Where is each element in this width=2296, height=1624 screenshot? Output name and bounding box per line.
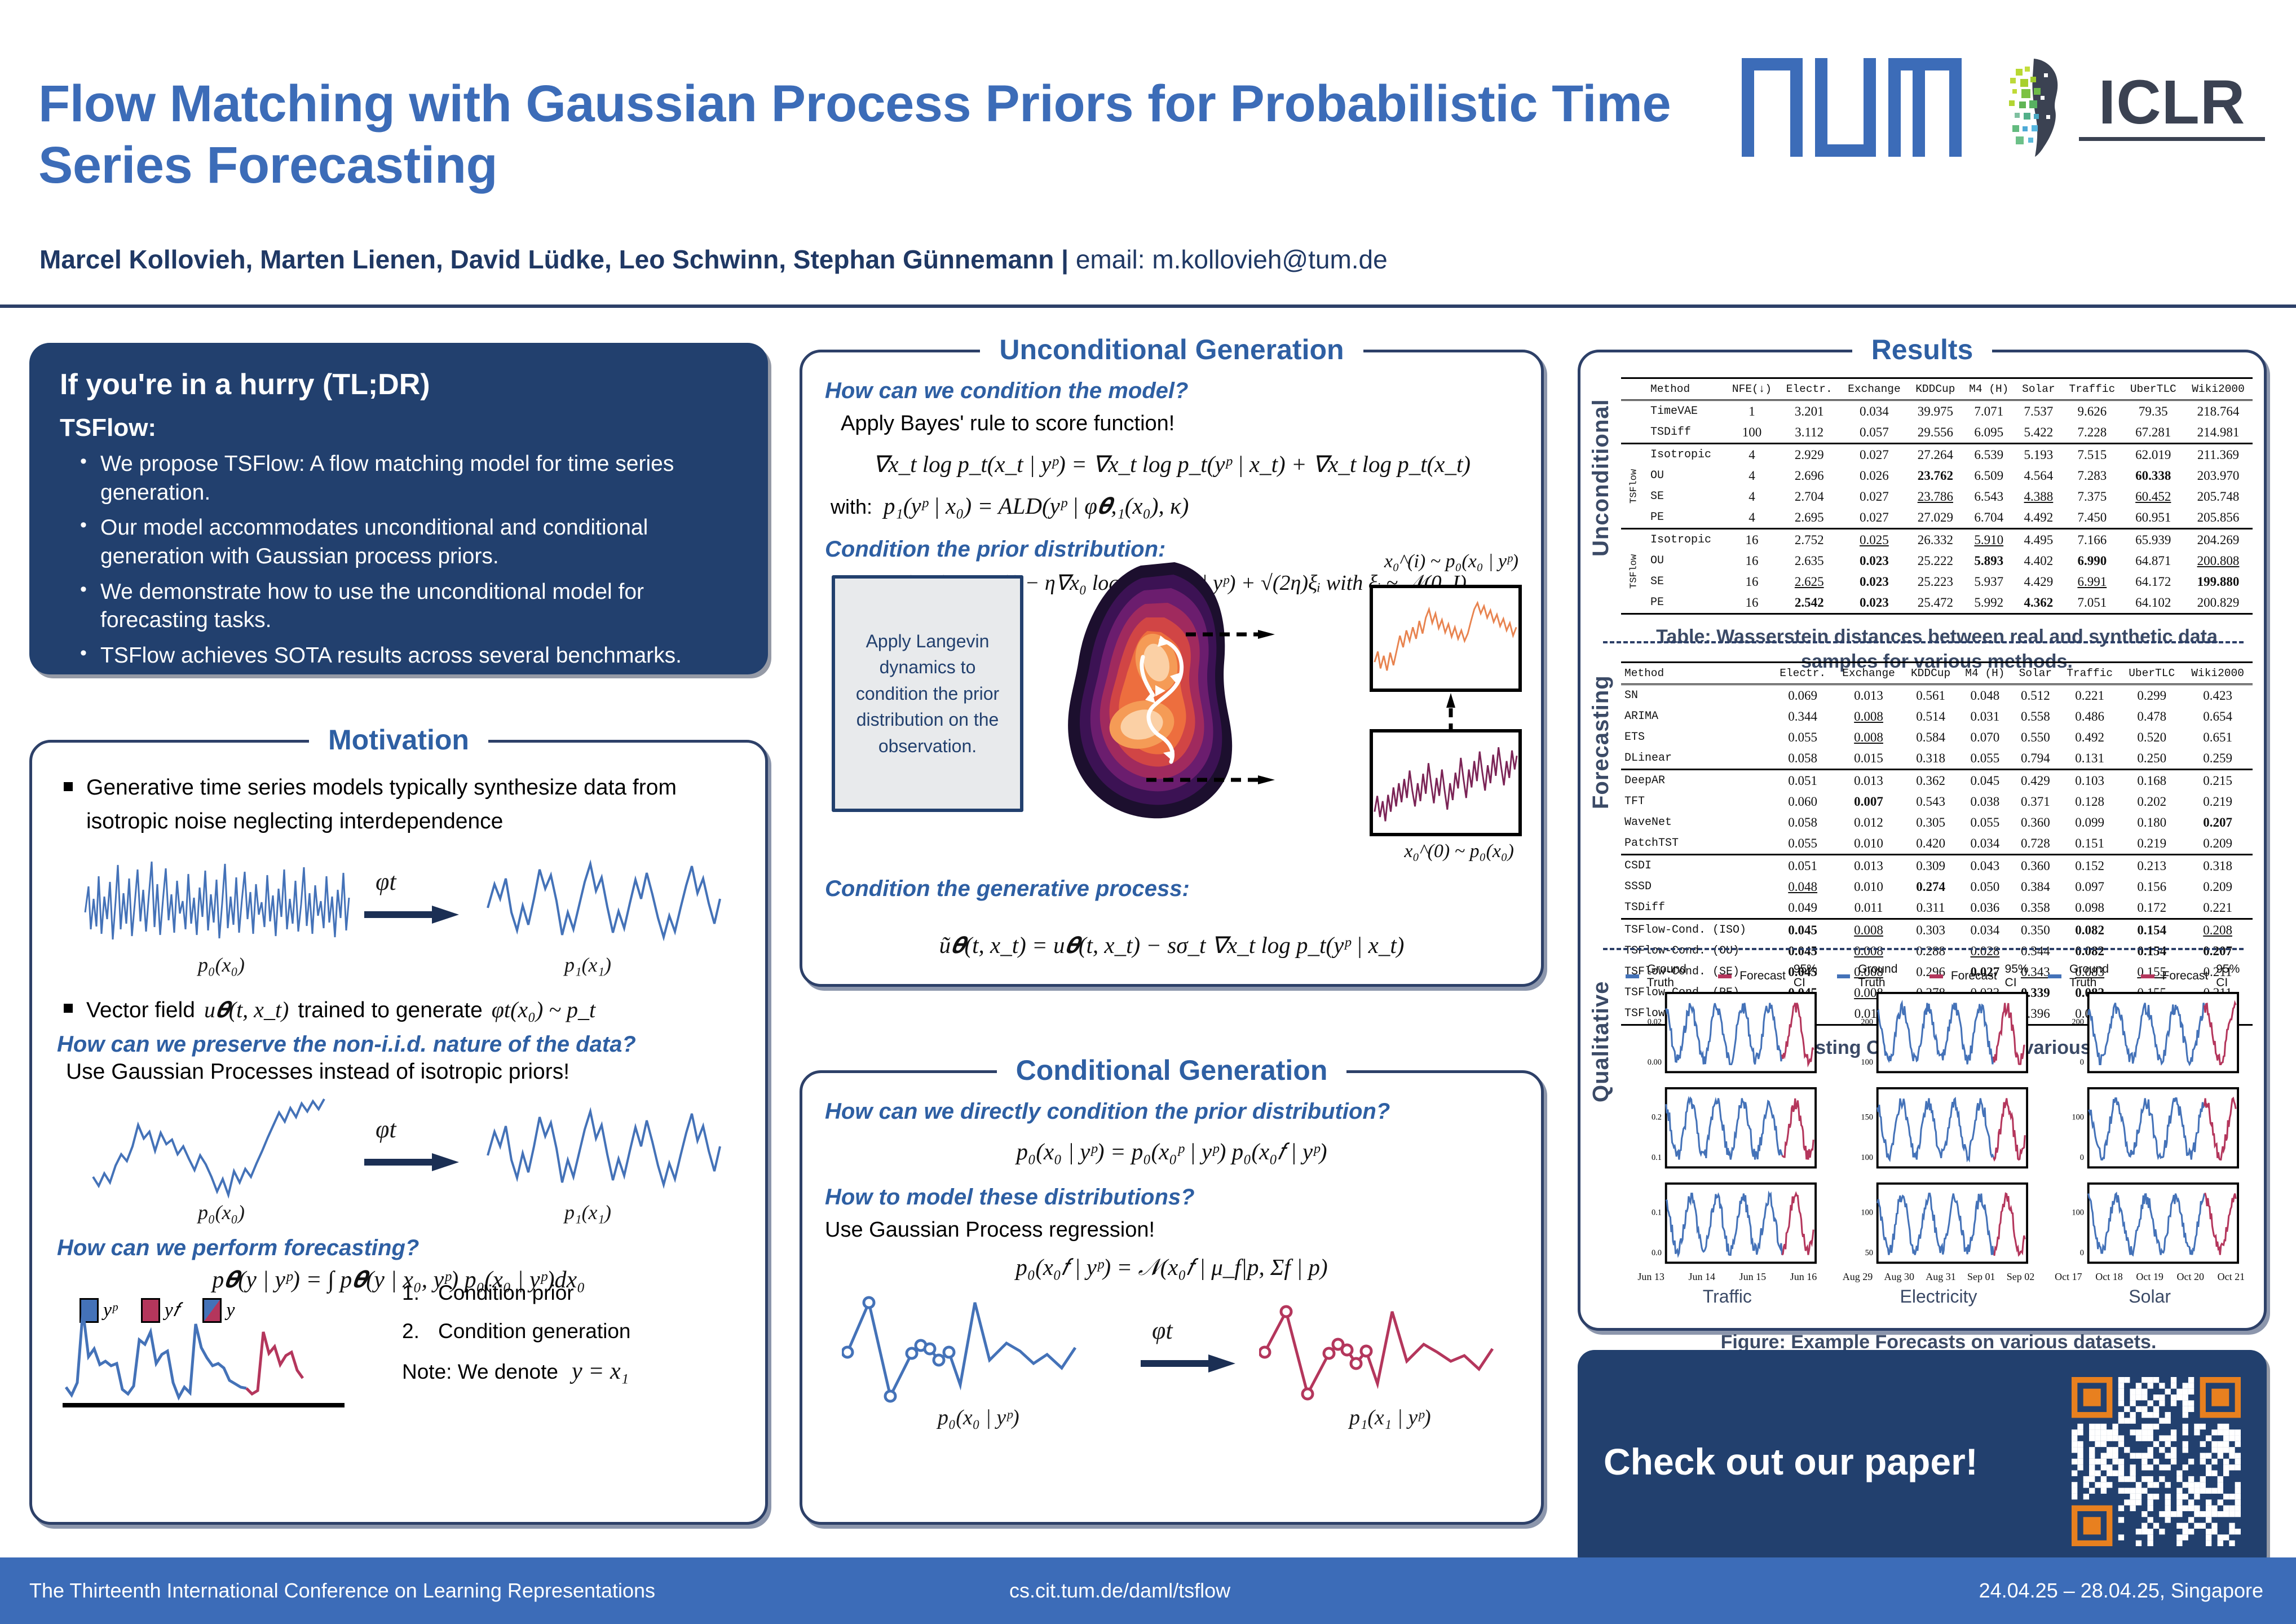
iclr-wordmark: ICLR (2079, 73, 2265, 141)
motivation-bullet-2: Vector field u𝜽(t, x_t) trained to gener… (57, 992, 740, 1027)
column-header: Method (1647, 378, 1725, 400)
table-cell: 0.028 (1958, 941, 2012, 961)
table-cell: 4.362 (2016, 592, 2061, 614)
table-cell: 0.055 (1772, 727, 1834, 748)
step-text: Condition generation (438, 1319, 630, 1343)
table-cell: 0.051 (1772, 855, 1834, 877)
table-cell: 0.299 (2121, 685, 2183, 707)
table-cell: 0.027 (1840, 444, 1909, 466)
list-item: We propose TSFlow: A flow matching model… (78, 450, 738, 507)
table-cell: 0.362 (1904, 770, 1958, 792)
conditional-generation-card: Conditional Generation How can we direct… (800, 1070, 1544, 1525)
unconditional-eq-bayes: ∇x_t log p_t(x_t | yᵖ) = ∇x_t log p_t(yᵖ… (825, 451, 1518, 478)
table-cell: 4.388 (2016, 486, 2061, 507)
table-cell: 0.025 (1840, 529, 1909, 551)
table-cell: 0.429 (2012, 770, 2059, 792)
dashed-arrow-up-icon (1446, 693, 1455, 732)
motivation-eq-flow: φt(x₀) ~ p_t (492, 992, 595, 1027)
table-cell: 79.35 (2123, 400, 2184, 422)
table-cell: 0.728 (2012, 833, 2059, 855)
table-cell: 0.156 (2121, 876, 2183, 897)
table-cell: 6.991 (2061, 571, 2122, 592)
table-cell: 2.542 (1779, 592, 1840, 614)
table-cell: 4.402 (2016, 550, 2061, 571)
table-cell: 60.452 (2123, 486, 2184, 507)
tldr-box: If you're in a hurry (TL;DR) TSFlow: We … (29, 343, 768, 674)
chart-title: Traffic (1626, 1286, 1829, 1307)
y-tick-label: 100 (1861, 1153, 1873, 1162)
table-cell: 39.975 (1909, 400, 1962, 422)
table-cell: 29.556 (1909, 422, 1962, 444)
table-cell: 0.010 (1834, 833, 1904, 855)
iclr-text: ICLR (2099, 73, 2246, 133)
y-tick-label: 0.02 (1648, 1018, 1662, 1027)
column-header: KDDCup (1904, 663, 1958, 685)
qual-chart-cell: 0100Oct 17Oct 18Oct 19Oct 20Oct 21Solar (2048, 1182, 2251, 1307)
x-axis-ticks: Jun 13Jun 14Jun 15Jun 16 (1626, 1271, 1829, 1283)
table-cell: 0.561 (1904, 685, 1958, 707)
table-cell: 0.219 (2183, 791, 2253, 812)
tldr-heading: If you're in a hurry (TL;DR) (60, 368, 738, 401)
table-cell: 6.509 (1962, 465, 2016, 486)
table-cell: 0.082 (2059, 941, 2121, 961)
table-cell: 0.202 (2121, 791, 2183, 812)
x-axis-ticks: Aug 29Aug 30Aug 31Sep 01Sep 02 (1837, 1271, 2041, 1283)
author-names: Marcel Kollovieh, Marten Lienen, David L… (39, 245, 1076, 274)
table-cell: 0.514 (1904, 706, 1958, 727)
y-tick-label: 0.0 (1652, 1248, 1662, 1257)
forecast-example-plot (63, 1298, 390, 1411)
table-cell: 25.472 (1909, 592, 1962, 614)
table-cell: 0.008 (1834, 706, 1904, 727)
table-cell: 0.043 (1958, 855, 2012, 877)
y-tick-label: 0 (2080, 1058, 2084, 1067)
unconditional-answer-1: Apply Bayes' rule to score function! (841, 412, 1518, 436)
motivation-body: Generative time series models typically … (32, 743, 765, 1522)
table-cell: 64.102 (2123, 592, 2184, 614)
step-number: 2. (402, 1319, 428, 1343)
table-cell: 0.219 (2121, 833, 2183, 855)
table-cell: 0.584 (1904, 727, 1958, 748)
motivation-fig1-right-label: p₁(x₁) (564, 953, 611, 977)
motivation-note-eq: y = x₁ (572, 1358, 629, 1385)
list-item: We demonstrate how to use the unconditio… (78, 578, 738, 635)
table-cell: 0.011 (1834, 897, 1904, 919)
table-cell: TimeVAE (1647, 400, 1725, 422)
table-cell: 0.036 (1958, 897, 2012, 919)
table-row: TimeVAE13.2010.03439.9757.0717.5379.6267… (1621, 400, 2253, 422)
x-tick-label: Aug 30 (1884, 1271, 1915, 1283)
conditional-generated-plot (1259, 1289, 1518, 1407)
conditional-question-2: How to model these distributions? (825, 1185, 1518, 1210)
list-item: 2. Condition generation (402, 1319, 718, 1343)
table-cell: PE (1647, 507, 1725, 529)
table-cell: 5.992 (1962, 592, 2016, 614)
table-cell: 0.250 (2121, 748, 2183, 770)
unconditional-question-1: How can we condition the model? (825, 378, 1518, 404)
langevin-note-box: Apply Langevin dynamics to condition the… (832, 575, 1023, 812)
table-cell: 0.057 (1840, 422, 1909, 444)
table-cell: 7.283 (2061, 465, 2122, 486)
table-cell: 0.215 (2183, 770, 2253, 792)
row-group-label: TSFlow (1621, 529, 1647, 614)
table-cell: 0.103 (2059, 770, 2121, 792)
column-header: UberTLC (2123, 378, 2184, 400)
table-cell: 0.031 (1958, 706, 2012, 727)
table-cell: 205.748 (2184, 486, 2253, 507)
table-cell: 7.375 (2061, 486, 2122, 507)
tldr-list: We propose TSFlow: A flow matching model… (78, 450, 738, 670)
unconditional-body: How can we condition the model? Apply Ba… (802, 352, 1541, 984)
table-cell: WaveNet (1621, 812, 1772, 833)
table-cell: 6.539 (1962, 444, 2016, 466)
table-row: OU162.6350.02325.2225.8934.4026.99064.87… (1621, 550, 2253, 571)
legend-swatch-ground-truth (2048, 974, 2061, 978)
line-chart: 0.000.02 (1626, 992, 1829, 1076)
table-cell: 0.478 (2121, 706, 2183, 727)
table-cell: 0.309 (1904, 855, 1958, 877)
table-cell: 0.154 (2121, 919, 2183, 941)
table-cell: 0.070 (1958, 727, 2012, 748)
x-tick-label: Oct 19 (2136, 1271, 2163, 1283)
table-cell: TSDiff (1621, 897, 1772, 919)
conditional-fig-left-label: p₀(x₀ | yᵖ) (938, 1405, 1019, 1430)
table-cell: TSFlow-Cond. (ISO) (1621, 919, 1772, 941)
vlabel-unconditional: Unconditional (1588, 387, 1614, 557)
table-cell: 5.422 (2016, 422, 2061, 444)
table-cell: 4.495 (2016, 529, 2061, 551)
table-cell: 214.981 (2184, 422, 2253, 444)
chart-legend: Ground TruthForecast95% CI (1837, 963, 2041, 990)
table-cell: 200.829 (2184, 592, 2253, 614)
legend-swatch-forecast (1929, 974, 1943, 978)
y-tick-label: 0 (2080, 1248, 2084, 1257)
table-cell: SSSD (1621, 876, 1772, 897)
table-cell: 0.069 (1772, 685, 1834, 707)
legend-label-ci: 95% CI (1794, 963, 1829, 990)
table-cell: 0.010 (1834, 876, 1904, 897)
legend-swatch-forecast (1718, 974, 1732, 978)
x-tick-label: Jun 13 (1637, 1271, 1664, 1283)
table-cell: 25.222 (1909, 550, 1962, 571)
table-cell: 0.318 (2183, 855, 2253, 877)
dashed-arrow-icon (1146, 775, 1276, 784)
table-cell: 0.026 (1840, 465, 1909, 486)
table-cell: 16 (1725, 571, 1779, 592)
table-cell: TSFlow-Cond. (OU) (1621, 941, 1772, 961)
table-cell: 2.929 (1779, 444, 1840, 466)
qr-code-icon[interactable] (2072, 1377, 2241, 1546)
table-row: SE42.7040.02723.7866.5434.3887.37560.452… (1621, 486, 2253, 507)
step-number: 1. (402, 1281, 428, 1305)
table-cell: 0.055 (1958, 812, 2012, 833)
table-cell: 0.128 (2059, 791, 2121, 812)
tldr-subheading: TSFlow: (60, 414, 738, 442)
divider-1 (1603, 641, 2244, 643)
qual-chart-cell: Ground TruthForecast95% CI0.000.02 (1626, 963, 1829, 1079)
table-cell: 0.058 (1772, 812, 1834, 833)
column-header: Traffic (2061, 378, 2122, 400)
chart-title: Solar (2048, 1286, 2251, 1307)
table-cell: 2.704 (1779, 486, 1840, 507)
footer-dates: 24.04.25 – 28.04.25, Singapore (1979, 1579, 2263, 1603)
table-cell: TSDiff (1647, 422, 1725, 444)
table-row: TSDiff1003.1120.05729.5566.0955.4227.228… (1621, 422, 2253, 444)
table-cell: 6.704 (1962, 507, 2016, 529)
results-title-wrap: Results (1580, 333, 2264, 366)
table-cell: 60.951 (2123, 507, 2184, 529)
x-tick-label: Aug 29 (1843, 1271, 1873, 1283)
table-row: TSFlow-Cond. (ISO)0.0450.0080.3030.0340.… (1621, 919, 2253, 941)
table-cell: 4 (1725, 444, 1779, 466)
motivation-bullet-1: Generative time series models typically … (57, 771, 740, 839)
table-cell: 0.049 (1772, 897, 1834, 919)
table-cell: 65.939 (2123, 529, 2184, 551)
motivation-fig2-right-label: p₁(x₁) (564, 1201, 611, 1224)
unconditional-eq-guided: ũ𝜽(t, x_t) = u𝜽(t, x_t) − sσ_t ∇x_t log … (802, 932, 1541, 959)
table-cell: 0.055 (1772, 833, 1834, 855)
conditional-answer-2: Use Gaussian Process regression! (825, 1218, 1518, 1242)
chart-legend: Ground TruthForecast95% CI (1626, 963, 1829, 990)
table-cell: 0.154 (2121, 941, 2183, 961)
table-cell: 16 (1725, 592, 1779, 614)
qualitative-grid: Ground TruthForecast95% CI0.000.02Ground… (1626, 963, 2251, 1307)
page-title: Flow Matching with Gaussian Process Prio… (38, 73, 1702, 196)
table-cell: 218.764 (2184, 400, 2253, 422)
table-cell: 2.752 (1779, 529, 1840, 551)
line-chart: 0.10.2 (1626, 1087, 1829, 1172)
purple-series (1373, 732, 1518, 833)
table-cell: 62.019 (2123, 444, 2184, 466)
unconditional-eq-ald: p₁(yᵖ | x₀) = ALD(yᵖ | φ𝜽,₁(x₀), κ) (884, 492, 1189, 520)
phi-label-3: φt (1152, 1316, 1173, 1345)
table-row: TFT0.0600.0070.5430.0380.3710.1280.2020.… (1621, 791, 2253, 812)
column-header: Exchange (1834, 663, 1904, 685)
unconditional-with-row: with: p₁(yᵖ | x₀) = ALD(yᵖ | φ𝜽,₁(x₀), κ… (831, 492, 1518, 520)
table-cell: 27.264 (1909, 444, 1962, 466)
qual-chart-cell: Ground TruthForecast95% CI100200 (1837, 963, 2041, 1079)
iclr-underline (2079, 137, 2265, 141)
y-tick-label: 0 (2080, 1153, 2084, 1162)
motivation-steps: 1. Condition prior 2. Condition generati… (402, 1281, 718, 1385)
dashed-arrow-icon (1186, 630, 1276, 639)
table-cell: 0.221 (2183, 897, 2253, 919)
qr-heading: Check out our paper! (1604, 1440, 2072, 1483)
table-cell: 0.045 (1772, 919, 1834, 941)
x-tick-label: Sep 01 (1967, 1271, 1995, 1283)
conditional-eq-factorization: p₀(x₀ | yᵖ) = p₀(x₀ᵖ | yᵖ) p₀(x₀𝑓 | yᵖ) (825, 1138, 1518, 1166)
table-row: TSFlow-Cond. (OU)0.0450.0080.2880.0280.3… (1621, 941, 2253, 961)
sample-plot-conditioned (1370, 585, 1522, 692)
table-cell: 4 (1725, 465, 1779, 486)
x-tick-label: Oct 17 (2055, 1271, 2082, 1283)
table-cell: 0.651 (2183, 727, 2253, 748)
table-cell: 0.099 (2059, 812, 2121, 833)
table-cell: 7.228 (2061, 422, 2122, 444)
column-header: Method (1621, 663, 1772, 685)
legend-label-ground-truth: Ground Truth (1858, 963, 1922, 990)
table-cell: OU (1647, 550, 1725, 571)
table-cell: PatchTST (1621, 833, 1772, 855)
legend-label-forecast: Forecast (1951, 969, 1997, 983)
table-cell: 0.048 (1958, 685, 2012, 707)
y-tick-label: 0.1 (1652, 1153, 1662, 1162)
row-group-label: TSFlow (1621, 444, 1647, 529)
table-cell: CSDI (1621, 855, 1772, 877)
table-cell: 7.515 (2061, 444, 2122, 466)
qual-chart-cell: 50100Aug 29Aug 30Aug 31Sep 01Sep 02Elect… (1837, 1182, 2041, 1307)
y-tick-label: 0.2 (1652, 1113, 1662, 1122)
line-chart: 0.00.1 (1626, 1182, 1829, 1267)
table-cell: 205.856 (2184, 507, 2253, 529)
list-item: Our model accommodates unconditional and… (78, 514, 738, 571)
table-cell: 0.013 (1834, 770, 1904, 792)
legend-swatch-forecast (2141, 974, 2154, 978)
qualitative-figure: Ground TruthForecast95% CI0.000.02Ground… (1626, 963, 2251, 1354)
table-cell: 0.360 (2012, 812, 2059, 833)
table-cell: 0.058 (1772, 748, 1834, 770)
table-cell: 2.695 (1779, 507, 1840, 529)
conditional-question-1: How can we directly condition the prior … (825, 1099, 1518, 1124)
table-cell: 0.007 (1834, 791, 1904, 812)
table-cell: 0.358 (2012, 897, 2059, 919)
section-title-results: Results (1852, 333, 1993, 366)
table-cell: 0.213 (2121, 855, 2183, 877)
motivation-bullet-2-pre: Vector field (86, 994, 195, 1027)
density-contour-plot (1045, 555, 1304, 826)
table-cell: 6.543 (1962, 486, 2016, 507)
table-cell: 26.332 (1909, 529, 1962, 551)
legend-label-ci: 95% CI (2005, 963, 2041, 990)
table-cell: 4 (1725, 507, 1779, 529)
table-cell: 0.045 (1772, 941, 1834, 961)
line-chart: 0100 (2048, 1182, 2251, 1267)
brain-icon (1990, 56, 2069, 158)
table-cell: 4.429 (2016, 571, 2061, 592)
unconditional-question-3: Condition the generative process: (825, 876, 1190, 902)
qual-chart-cell: 0.10.2 (1626, 1087, 1829, 1175)
qual-chart-cell: 0100 (2048, 1087, 2251, 1175)
line-chart: 50100 (1837, 1182, 2041, 1267)
table-row: SSSD0.0480.0100.2740.0500.3840.0970.1560… (1621, 876, 2253, 897)
orange-series (1373, 588, 1518, 689)
with-label: with: (831, 495, 872, 519)
table-cell: 9.626 (2061, 400, 2122, 422)
table-cell: 7.051 (2061, 592, 2122, 614)
column-header: UberTLC (2121, 663, 2183, 685)
arrow-right-icon (364, 903, 460, 926)
table-cell: 0.034 (1958, 919, 2012, 941)
line-chart: 0200 (2048, 992, 2251, 1076)
legend-swatch-ground-truth (1837, 974, 1851, 978)
table-cell: 4.492 (2016, 507, 2061, 529)
table-cell: 0.027 (1840, 507, 1909, 529)
table-cell: DeepAR (1621, 770, 1772, 792)
table-cell: 16 (1725, 550, 1779, 571)
x-tick-label: Aug 31 (1926, 1271, 1956, 1283)
table-cell: 211.369 (2184, 444, 2253, 466)
table-cell: 0.384 (2012, 876, 2059, 897)
table-cell: 5.910 (1962, 529, 2016, 551)
table-cell: 0.055 (1958, 748, 2012, 770)
table-cell: 0.060 (1772, 791, 1834, 812)
table-cell: 25.223 (1909, 571, 1962, 592)
line-chart: 100150 (1837, 1087, 2041, 1172)
column-header: Exchange (1840, 378, 1909, 400)
noise-series-plot (83, 845, 354, 960)
poster-footer: The Thirteenth International Conference … (0, 1557, 2296, 1624)
table-cell: 0.097 (2059, 876, 2121, 897)
table-cell: 0.034 (1958, 833, 2012, 855)
divider-2 (1603, 948, 2244, 950)
chart-title: Electricity (1837, 1286, 2041, 1307)
legend-swatch-ground-truth (1626, 974, 1639, 978)
table-cell: 0.305 (1904, 812, 1958, 833)
motivation-figure-1: φt p₀(x₀) p₁(x₁) (57, 842, 740, 983)
density-bottom-label: x₀^(0) ~ p₀(x₀) (1404, 841, 1514, 862)
smooth-series-plot (485, 845, 722, 960)
table-cell: 0.023 (1840, 592, 1909, 614)
table-cell: 0.550 (2012, 727, 2059, 748)
table-cell: 0.654 (2183, 706, 2253, 727)
qual-chart-cell: 100150 (1837, 1087, 2041, 1175)
table-cell: 0.208 (2183, 919, 2253, 941)
gp-data-plot (485, 1092, 722, 1208)
table-cell: 3.201 (1779, 400, 1840, 422)
table-cell: 100 (1725, 422, 1779, 444)
motivation-fig2-left-label: p₀(x₀) (198, 1201, 245, 1224)
table-cell: 0.221 (2059, 685, 2121, 707)
table-cell: 0.015 (1834, 748, 1904, 770)
x-axis-ticks: Oct 17Oct 18Oct 19Oct 20Oct 21 (2048, 1271, 2251, 1283)
table-cell: 7.071 (1962, 400, 2016, 422)
table-cell: 0.543 (1904, 791, 1958, 812)
row-group-label (1621, 400, 1647, 444)
qual-chart-cell: Ground TruthForecast95% CI0200 (2048, 963, 2251, 1079)
table-cell: 0.098 (2059, 897, 2121, 919)
motivation-question-1: How can we preserve the non-i.i.d. natur… (57, 1032, 740, 1057)
table-cell: 0.558 (2012, 706, 2059, 727)
table-cell: 0.013 (1834, 685, 1904, 707)
table-row: PE162.5420.02325.4725.9924.3627.05164.10… (1621, 592, 2253, 614)
table-cell: 64.172 (2123, 571, 2184, 592)
paper-qr-box[interactable]: Check out our paper! (1578, 1350, 2267, 1573)
y-tick-label: 100 (1861, 1058, 1873, 1067)
y-tick-label: 150 (1861, 1113, 1873, 1122)
table-cell: 0.360 (2012, 855, 2059, 877)
table-cell: 2.696 (1779, 465, 1840, 486)
column-header: Solar (2016, 378, 2061, 400)
table-unconditional: MethodNFE(↓)Electr.ExchangeKDDCupM4 (H)S… (1621, 377, 2253, 615)
table-cell: 4.564 (2016, 465, 2061, 486)
table-cell: 0.131 (2059, 748, 2121, 770)
table-row: PatchTST0.0550.0100.4200.0340.7280.1510.… (1621, 833, 2253, 855)
motivation-eq-vector-field: u𝜽(t, x_t) (204, 992, 289, 1027)
column-header: Wiki2000 (2184, 378, 2253, 400)
table-cell: 4 (1725, 486, 1779, 507)
table-cell: 204.269 (2184, 529, 2253, 551)
table-cell: 203.970 (2184, 465, 2253, 486)
table-cell: SE (1647, 486, 1725, 507)
table-cell: 0.027 (1840, 486, 1909, 507)
table-cell: 0.180 (2121, 812, 2183, 833)
table-row: ARIMA0.3440.0080.5140.0310.5580.4860.478… (1621, 706, 2253, 727)
arrow-right-icon (1141, 1352, 1237, 1375)
table-cell: 0.168 (2121, 770, 2183, 792)
vlabel-forecasting: Forecasting (1588, 623, 1614, 809)
motivation-fig1-left-label: p₀(x₀) (198, 953, 245, 977)
footer-url[interactable]: cs.cit.tum.de/daml/tsflow (1009, 1579, 1230, 1603)
